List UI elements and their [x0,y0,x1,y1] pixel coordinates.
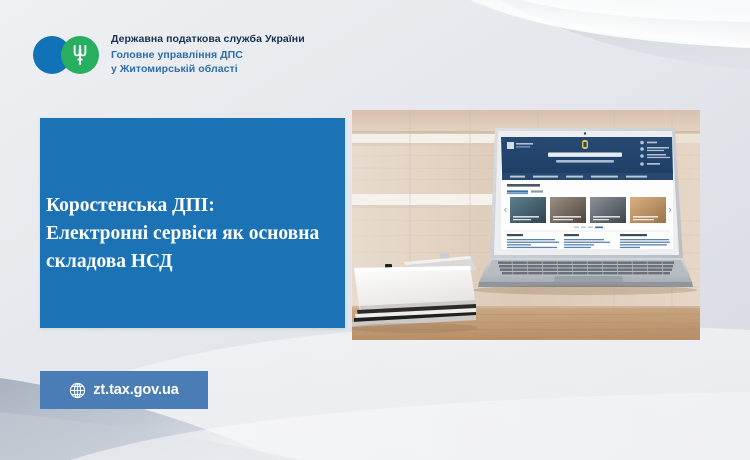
url-label: zt.tax.gov.ua [93,382,178,398]
website-url-badge[interactable]: zt.tax.gov.ua [40,371,208,409]
laptop-photo [352,110,700,340]
org-text-block: Державна податкова служба України Головн… [111,33,305,76]
dps-logo [33,36,99,74]
org-header: Державна податкова служба України Головн… [33,33,305,76]
trident-icon [73,44,87,66]
org-line-1: Державна податкова служба України [111,33,305,46]
title-panel: Коростенська ДПІ: Електронні сервіси як … [40,118,345,328]
page-title: Коростенська ДПІ: Електронні сервіси як … [40,192,327,275]
org-line-2: Головне управління ДПС [111,49,305,62]
org-line-3: у Житомирській області [111,63,305,76]
globe-icon [69,382,86,399]
